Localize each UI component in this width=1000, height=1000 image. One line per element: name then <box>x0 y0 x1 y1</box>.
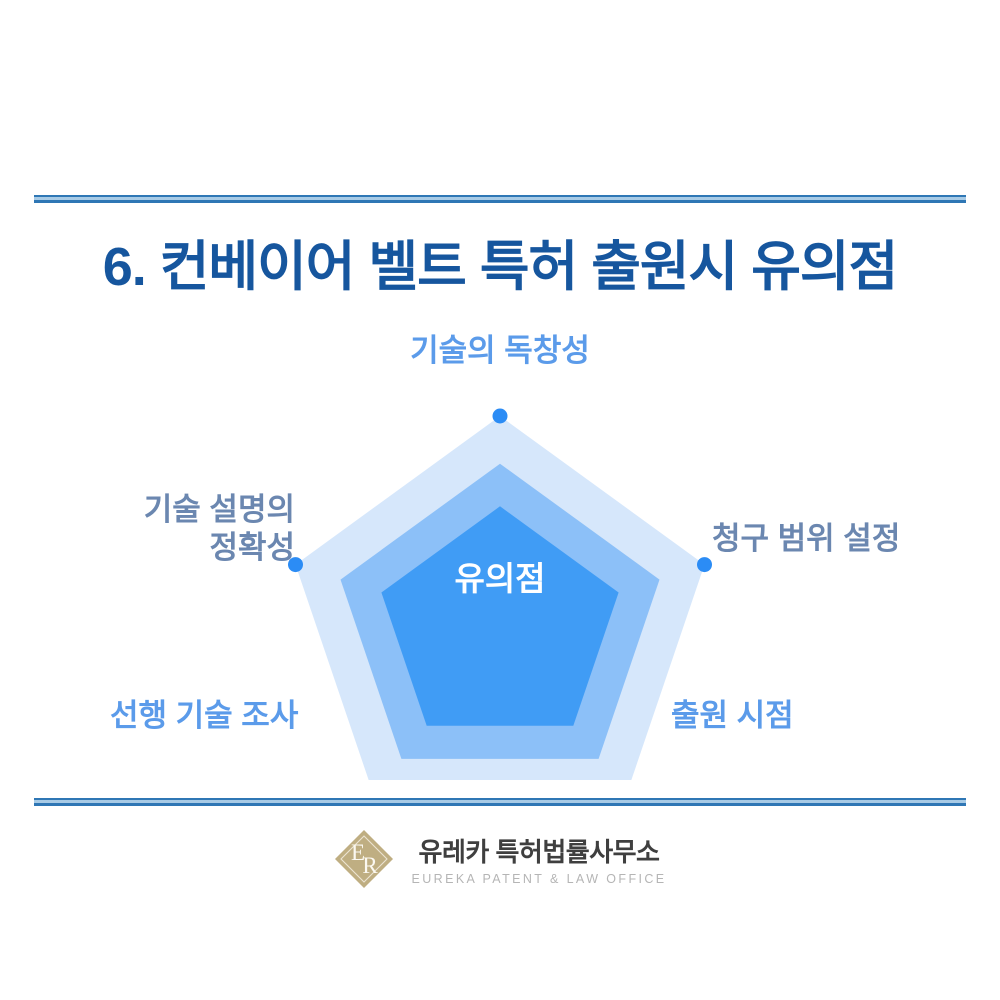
slide-canvas: 6. 컨베이어 벨트 특허 출원시 유의점 유의점 기술의 독창성 기술 설명의… <box>0 0 1000 1000</box>
divider-top <box>34 195 966 205</box>
footer-logo-text: 유레카 특허법률사무소 EUREKA PATENT & LAW OFFICE <box>411 832 666 886</box>
vertex-dot-top <box>493 409 508 424</box>
eureka-diamond-icon: E R <box>333 828 395 890</box>
divider-bottom-line-3 <box>34 803 966 806</box>
diamond-monogram-svg: E R <box>333 828 395 890</box>
page-title: 6. 컨베이어 벨트 특허 출원시 유의점 <box>0 222 1000 301</box>
footer-logo: E R 유레카 특허법률사무소 EUREKA PATENT & LAW OFFI… <box>0 824 1000 894</box>
node-label-left: 기술 설명의 정확성 <box>40 491 295 567</box>
node-label-bottom-left: 선행 기술 조사 <box>110 697 298 735</box>
vertex-dot-right <box>697 557 712 572</box>
node-label-bottom-right: 출원 시점 <box>671 697 794 735</box>
monogram-letter-r: R <box>363 853 379 878</box>
divider-top-line-3 <box>34 200 966 203</box>
company-name-en: EUREKA PATENT & LAW OFFICE <box>411 872 666 886</box>
node-label-right: 청구 범위 설정 <box>712 520 900 558</box>
divider-bottom <box>34 798 966 808</box>
node-label-left-line1: 기술 설명의 <box>40 491 295 529</box>
node-label-top: 기술의 독창성 <box>0 332 1000 370</box>
company-name-kr: 유레카 특허법률사무소 <box>419 832 660 869</box>
node-label-left-line2: 정확성 <box>40 529 295 567</box>
